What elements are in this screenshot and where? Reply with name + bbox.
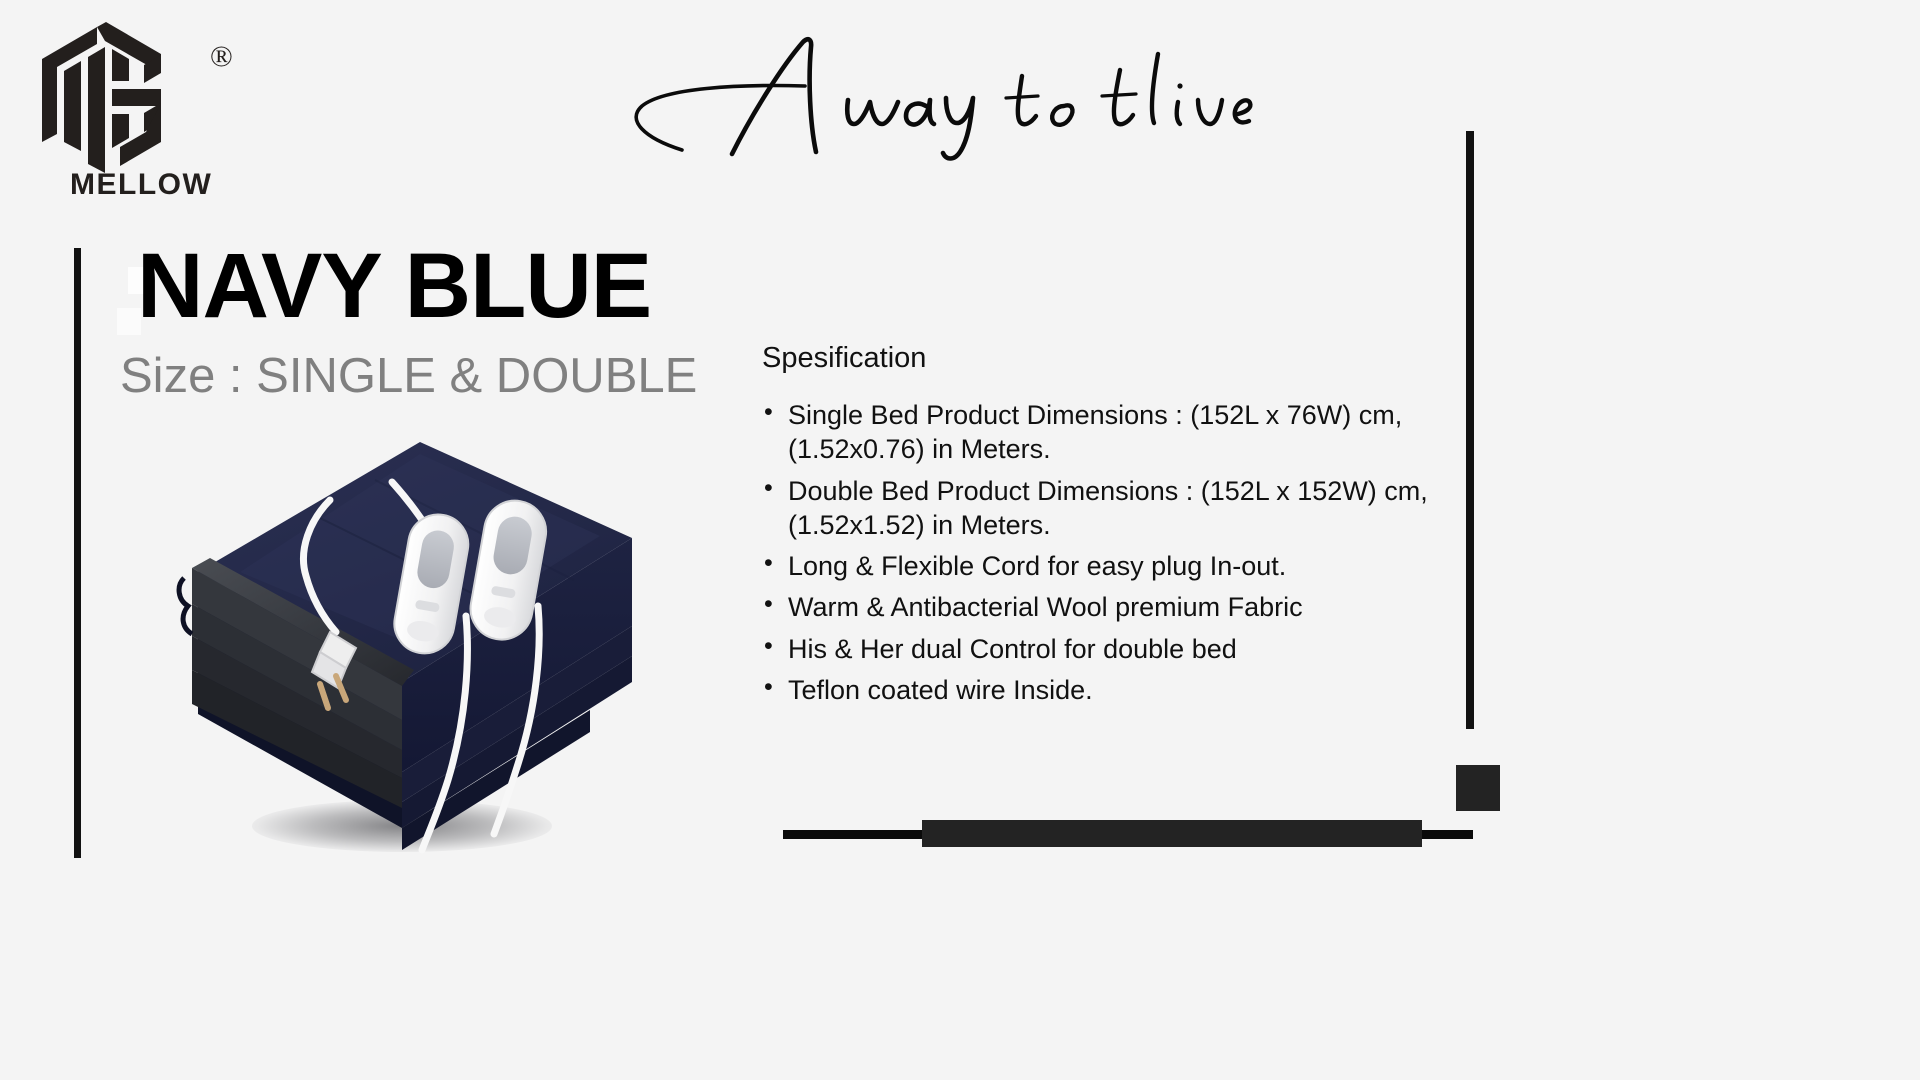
folded-navy-electric-blanket-icon [170, 420, 650, 880]
list-item: Warm & Antibacterial Wool premium Fabric [762, 590, 1442, 624]
specification-panel: Spesification Single Bed Product Dimensi… [762, 342, 1442, 714]
specification-title: Spesification [762, 342, 1442, 375]
product-photo[interactable] [170, 420, 650, 880]
registered-trademark-icon: ® [210, 40, 233, 74]
bottom-thick-bar [922, 820, 1422, 847]
brand-tagline [620, 28, 1260, 158]
page-title: NAVY BLUE [120, 240, 740, 332]
left-vertical-rule [74, 248, 81, 858]
square-accent [1456, 765, 1500, 811]
specification-list: Single Bed Product Dimensions : (152L x … [762, 398, 1442, 707]
list-item: Teflon coated wire Inside. [762, 673, 1442, 707]
list-item: Double Bed Product Dimensions : (152L x … [762, 474, 1442, 543]
list-item: Single Bed Product Dimensions : (152L x … [762, 398, 1442, 467]
brand-logo[interactable]: ® MELLOW [34, 18, 254, 183]
headline-group: NAVY BLUE [120, 240, 740, 332]
list-item: Long & Flexible Cord for easy plug In-ou… [762, 549, 1442, 583]
list-item: His & Her dual Control for double bed [762, 632, 1442, 666]
tagline-script-art [620, 28, 1260, 158]
mellow-hexagon-monogram-icon [34, 18, 184, 183]
size-label: Size : SINGLE & DOUBLE [120, 348, 697, 404]
brand-name: MELLOW [70, 168, 212, 202]
poster-canvas: ® MELLOW [0, 0, 1920, 1080]
right-vertical-rule [1466, 131, 1474, 729]
